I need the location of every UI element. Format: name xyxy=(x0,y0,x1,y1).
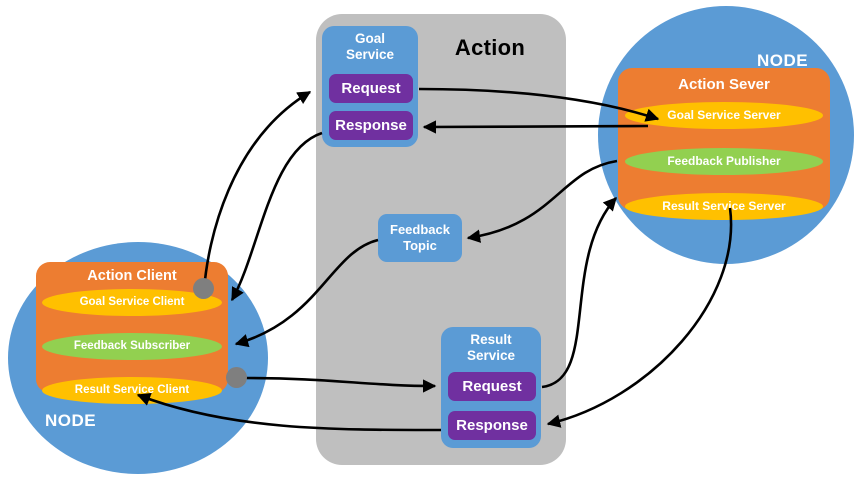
goal-client-connector-dot xyxy=(193,278,214,299)
diagram-canvas: Action NODE NODE Action Client Goal Serv… xyxy=(0,0,854,480)
result-client-connector-dot xyxy=(226,367,247,388)
connector-dots-layer xyxy=(0,0,854,480)
